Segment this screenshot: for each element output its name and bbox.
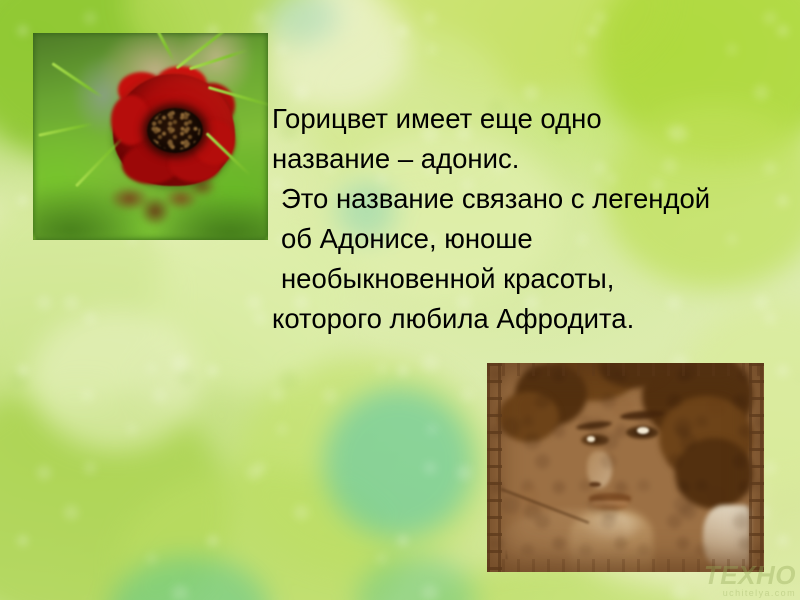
adonis-portrait-image: [487, 363, 764, 572]
portrait-vignette: [487, 363, 764, 572]
background-highlight-blob: [30, 310, 200, 450]
background-highlight-blob: [260, 0, 410, 110]
background-teal-clover: [268, 0, 338, 44]
watermark-subtext: uchitelya.com: [704, 589, 796, 598]
background-teal-clover: [324, 388, 474, 538]
background-leaf-blob: [0, 384, 230, 600]
background-leaf-blob: [370, 0, 670, 94]
body-text-line-3: Это название связано с легендой: [272, 179, 800, 219]
background-teal-clover: [110, 556, 270, 600]
body-text-line-6: которого любила Афродита.: [272, 299, 800, 339]
body-text-line-2: название – адонис.: [272, 139, 800, 179]
slide-body-text: Горицвет имеет еще одно название – адони…: [272, 99, 800, 339]
body-text-line-1: Горицвет имеет еще одно: [272, 99, 800, 139]
background-teal-clover: [356, 556, 476, 600]
flower-stamen-centre: [147, 108, 203, 154]
flower-photo: [33, 33, 268, 240]
background-leaf-blob: [238, 356, 488, 571]
flower-petal: [111, 95, 151, 145]
body-text-line-5: необыкновенной красоты,: [272, 259, 800, 299]
background-leaf-blob: [120, 468, 400, 600]
body-text-line-4: об Адонисе, юноше: [272, 219, 800, 259]
slide-canvas: Горицвет имеет еще одно название – адони…: [0, 0, 800, 600]
